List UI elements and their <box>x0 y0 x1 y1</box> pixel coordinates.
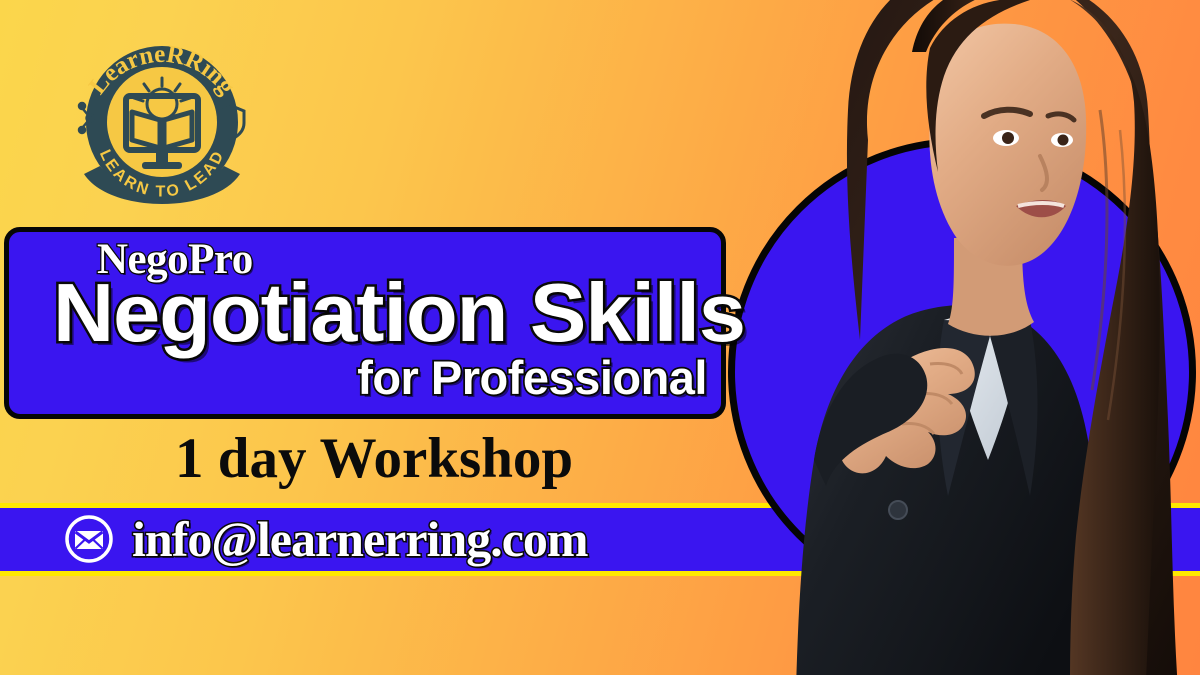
contact-row: info@learnerring.com <box>64 509 588 569</box>
brand-logo: LearneRRing LEARN TO LEAD <box>62 26 262 226</box>
contact-email[interactable]: info@learnerring.com <box>132 514 588 564</box>
banner-headline: Negotiation Skills <box>53 269 745 356</box>
promotional-poster: LearneRRing LEARN TO LEAD NegoPro Negoti… <box>0 0 1200 675</box>
title-banner: NegoPro Negotiation Skills for Professio… <box>4 227 726 419</box>
banner-subhead: for Professional <box>357 354 707 401</box>
envelope-circle-icon <box>64 514 114 564</box>
workshop-duration: 1 day Workshop <box>175 430 573 487</box>
speaker-photo <box>748 0 1200 675</box>
